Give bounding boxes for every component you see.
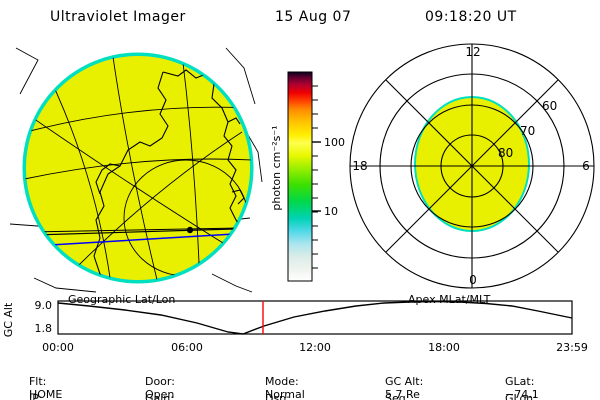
observation-date: 15 Aug 07 — [275, 9, 351, 25]
status-gain: Gain: 14 — [124, 379, 174, 400]
status-dsp-label: Dsp: — [265, 392, 290, 400]
colorbar-tick-100-label: 100 — [324, 136, 345, 149]
status-footer: Flt: HOME IP: 36.0 Door: Open Gain: 14 M… — [0, 360, 600, 400]
colorbar-tick-10-label: 10 — [324, 205, 338, 218]
status-glon: GLon: 74.6 — [484, 379, 537, 400]
status-ip-label: IP: — [29, 392, 43, 400]
strip-plot-frame — [58, 301, 572, 334]
mlt-label-6: 6 — [582, 159, 590, 173]
colorbar-gradient — [288, 72, 312, 281]
status-seq: Seq: 39 — [364, 379, 409, 400]
geographic-image-panel[interactable] — [0, 42, 268, 294]
apex-polar-svg: 12 6 0 18 60 70 80 — [346, 42, 600, 294]
status-gain-label: Gain: — [145, 392, 174, 400]
instrument-title: Ultraviolet Imager — [50, 9, 186, 25]
colorbar-minor-ticks — [312, 86, 318, 268]
earth-disk-fill — [26, 56, 250, 280]
ultraviolet-imager-window: Ultraviolet Imager 15 Aug 07 09:18:20 UT — [0, 0, 600, 400]
strip-x-tick-2: 12:00 — [299, 341, 331, 354]
strip-chart-svg: GC Alt 9.0 1.8 00:00 06:00 12:00 18:00 2… — [0, 290, 600, 356]
mlt-label-12: 12 — [465, 45, 480, 59]
strip-x-tick-4: 23:59 — [556, 341, 588, 354]
mlt-spokes — [350, 44, 594, 288]
colorbar-panel[interactable]: photon cm⁻²s⁻¹ 100 — [268, 42, 346, 294]
status-glon-label: GLon: — [505, 392, 537, 400]
mlat-label-70: 70 — [520, 124, 535, 138]
strip-x-tick-3: 18:00 — [428, 341, 460, 354]
gc-altitude-trace — [58, 302, 572, 335]
apex-polar-panel[interactable]: 12 6 0 18 60 70 80 — [346, 42, 600, 294]
strip-x-tick-1: 06:00 — [171, 341, 203, 354]
observation-time: 09:18:20 UT — [425, 9, 517, 25]
mlat-label-80: 80 — [498, 146, 513, 160]
mlat-label-60: 60 — [542, 99, 557, 113]
colorbar-svg: photon cm⁻²s⁻¹ 100 — [268, 42, 346, 294]
subsatellite-point-marker — [187, 227, 193, 233]
strip-y-tick-low: 1.8 — [35, 322, 53, 335]
orbit-altitude-strip-chart[interactable]: GC Alt 9.0 1.8 00:00 06:00 12:00 18:00 2… — [0, 290, 600, 356]
status-ip: IP: 36.0 — [8, 379, 53, 400]
strip-y-tick-high: 9.0 — [35, 299, 53, 312]
strip-y-axis-title: GC Alt — [2, 302, 15, 337]
status-dsp: Dsp: 4.7 — [244, 379, 290, 400]
colorbar-axis-label: photon cm⁻²s⁻¹ — [270, 125, 283, 210]
strip-x-tick-0: 00:00 — [42, 341, 74, 354]
geographic-globe-svg — [0, 42, 268, 294]
mlt-label-18: 18 — [352, 159, 367, 173]
mlt-label-0: 0 — [469, 273, 477, 287]
status-seq-label: Seq: — [385, 392, 409, 400]
